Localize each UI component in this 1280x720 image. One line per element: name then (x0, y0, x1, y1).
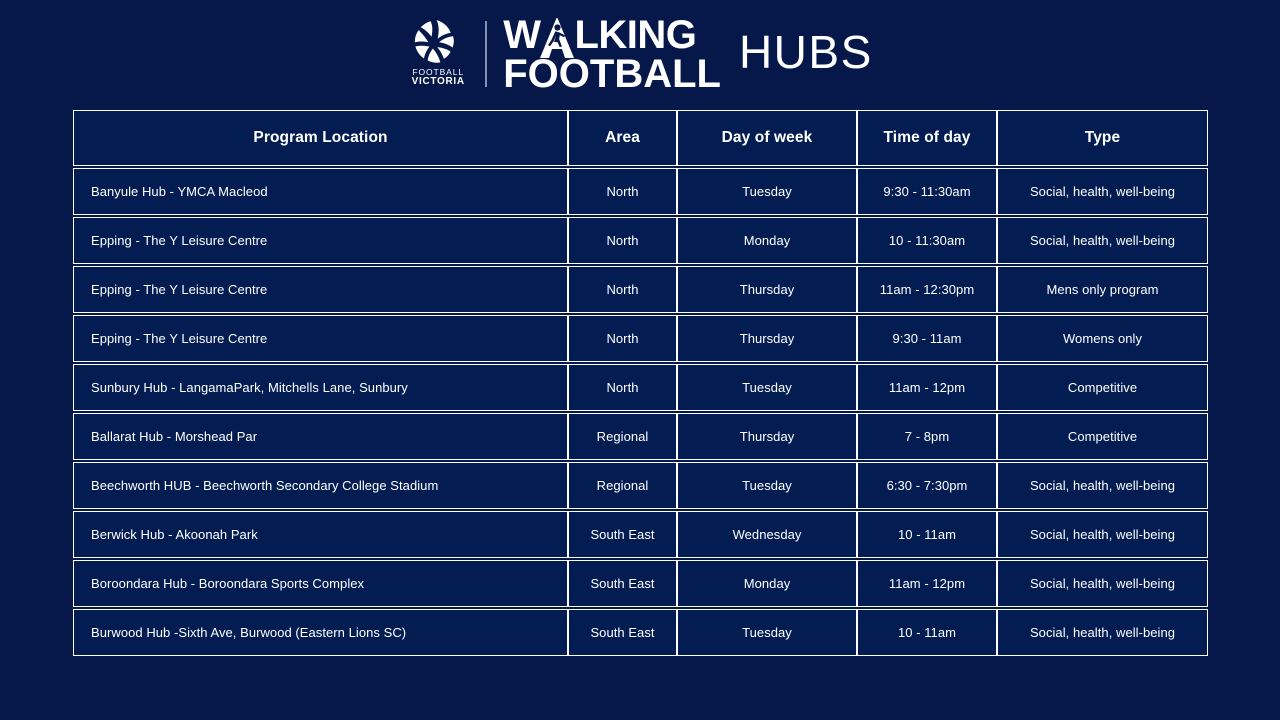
cell-type: Competitive (997, 364, 1208, 411)
wordmark-line-football: FOOTBALL (503, 56, 721, 93)
column-header-time-of-day: Time of day (857, 110, 997, 166)
cell-location: Epping - The Y Leisure Centre (73, 315, 568, 362)
cell-location: Berwick Hub - Akoonah Park (73, 511, 568, 558)
brand-name: FOOTBALL VICTORIA (412, 68, 465, 87)
schedule-table: Program Location Area Day of week Time o… (73, 108, 1208, 658)
cell-location: Epping - The Y Leisure Centre (73, 217, 568, 264)
cell-type: Social, health, well-being (997, 609, 1208, 656)
table-row: Ballarat Hub - Morshead ParRegionalThurs… (73, 413, 1208, 460)
cell-day: Tuesday (677, 364, 857, 411)
cell-area: North (568, 364, 677, 411)
column-header-type: Type (997, 110, 1208, 166)
cell-day: Thursday (677, 413, 857, 460)
cell-area: South East (568, 560, 677, 607)
wordmark-lking: LKING (574, 17, 696, 54)
table-row: Epping - The Y Leisure CentreNorthThursd… (73, 266, 1208, 313)
cell-area: Regional (568, 413, 677, 460)
walking-football-wordmark: W LKING FOOTBALL (503, 16, 721, 93)
page-header: FOOTBALL VICTORIA W LKING F (0, 0, 1280, 108)
cell-time: 11am - 12pm (857, 560, 997, 607)
cell-type: Social, health, well-being (997, 462, 1208, 509)
cell-time: 11am - 12:30pm (857, 266, 997, 313)
cell-day: Wednesday (677, 511, 857, 558)
brand-lockup: FOOTBALL VICTORIA W LKING F (407, 16, 873, 93)
schedule-table-container: Program Location Area Day of week Time o… (73, 108, 1208, 658)
cell-type: Social, health, well-being (997, 511, 1208, 558)
table-row: Berwick Hub - Akoonah ParkSouth EastWedn… (73, 511, 1208, 558)
cell-time: 10 - 11am (857, 609, 997, 656)
table-row: Beechworth HUB - Beechworth Secondary Co… (73, 462, 1208, 509)
cell-type: Social, health, well-being (997, 217, 1208, 264)
cell-location: Epping - The Y Leisure Centre (73, 266, 568, 313)
cell-time: 9:30 - 11am (857, 315, 997, 362)
football-victoria-logo: FOOTBALL VICTORIA (407, 19, 469, 89)
cell-day: Thursday (677, 315, 857, 362)
cell-type: Womens only (997, 315, 1208, 362)
cell-time: 7 - 8pm (857, 413, 997, 460)
cell-area: North (568, 315, 677, 362)
cell-area: Regional (568, 462, 677, 509)
cell-day: Thursday (677, 266, 857, 313)
cell-type: Competitive (997, 413, 1208, 460)
page-title: HUBS (739, 29, 873, 79)
cell-type: Mens only program (997, 266, 1208, 313)
table-row: Epping - The Y Leisure CentreNorthMonday… (73, 217, 1208, 264)
table-row: Epping - The Y Leisure CentreNorthThursd… (73, 315, 1208, 362)
cell-location: Boroondara Hub - Boroondara Sports Compl… (73, 560, 568, 607)
cell-area: South East (568, 609, 677, 656)
cell-area: North (568, 217, 677, 264)
cell-time: 6:30 - 7:30pm (857, 462, 997, 509)
walking-figure-a-icon (540, 16, 574, 56)
cell-area: North (568, 168, 677, 215)
football-ball-icon (412, 19, 464, 65)
brand-line-victoria: VICTORIA (412, 77, 465, 87)
cell-type: Social, health, well-being (997, 560, 1208, 607)
column-header-program-location: Program Location (73, 110, 568, 166)
cell-day: Monday (677, 217, 857, 264)
column-header-area: Area (568, 110, 677, 166)
cell-time: 9:30 - 11:30am (857, 168, 997, 215)
table-body: Banyule Hub - YMCA MacleodNorthTuesday9:… (73, 168, 1208, 656)
cell-day: Tuesday (677, 462, 857, 509)
cell-location: Banyule Hub - YMCA Macleod (73, 168, 568, 215)
cell-time: 11am - 12pm (857, 364, 997, 411)
cell-location: Burwood Hub -Sixth Ave, Burwood (Eastern… (73, 609, 568, 656)
table-row: Boroondara Hub - Boroondara Sports Compl… (73, 560, 1208, 607)
cell-day: Tuesday (677, 168, 857, 215)
wordmark-w: W (503, 17, 540, 54)
cell-area: South East (568, 511, 677, 558)
cell-location: Ballarat Hub - Morshead Par (73, 413, 568, 460)
wordmark-line-walking: W LKING (503, 16, 721, 56)
cell-location: Beechworth HUB - Beechworth Secondary Co… (73, 462, 568, 509)
cell-time: 10 - 11:30am (857, 217, 997, 264)
lockup-divider (485, 21, 487, 87)
table-row: Sunbury Hub - LangamaPark, Mitchells Lan… (73, 364, 1208, 411)
cell-day: Monday (677, 560, 857, 607)
table-header-row: Program Location Area Day of week Time o… (73, 110, 1208, 166)
cell-time: 10 - 11am (857, 511, 997, 558)
cell-area: North (568, 266, 677, 313)
table-row: Banyule Hub - YMCA MacleodNorthTuesday9:… (73, 168, 1208, 215)
column-header-day-of-week: Day of week (677, 110, 857, 166)
cell-day: Tuesday (677, 609, 857, 656)
cell-type: Social, health, well-being (997, 168, 1208, 215)
table-row: Burwood Hub -Sixth Ave, Burwood (Eastern… (73, 609, 1208, 656)
cell-location: Sunbury Hub - LangamaPark, Mitchells Lan… (73, 364, 568, 411)
